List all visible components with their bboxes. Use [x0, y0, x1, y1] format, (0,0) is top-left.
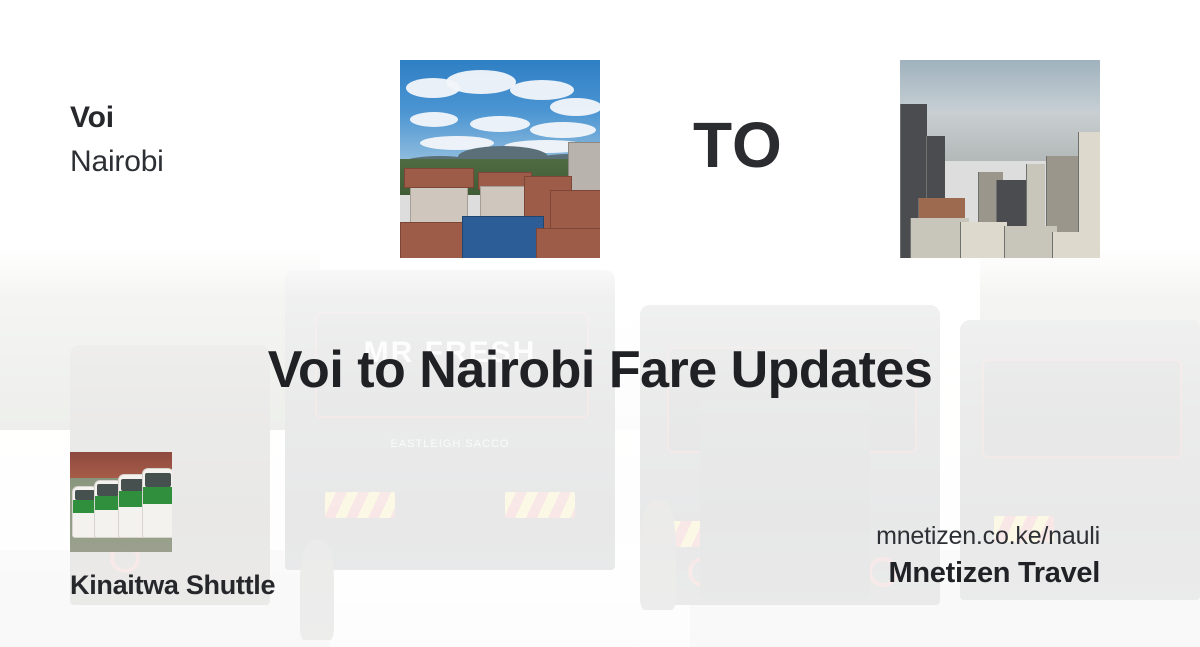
route-origin-label: Voi [70, 100, 164, 135]
destination-thumbnail [900, 60, 1100, 258]
cloud [530, 122, 596, 138]
low-rise-building [960, 222, 1007, 258]
cloud [550, 98, 600, 116]
low-rise-building [1052, 232, 1100, 258]
route-connector: TO [693, 108, 783, 182]
shuttle-van [142, 468, 172, 538]
cloud [410, 112, 458, 127]
brand-name: Mnetizen Travel [876, 557, 1100, 590]
van-green-stripe [143, 487, 172, 505]
brand-block: mnetizen.co.ke/nauli Mnetizen Travel [876, 522, 1100, 590]
building-roof [536, 228, 600, 258]
operator-logo [70, 452, 172, 552]
van-windshield [145, 473, 170, 487]
brand-url: mnetizen.co.ke/nauli [876, 522, 1100, 551]
blue-market-roof [462, 216, 544, 258]
building-roof [404, 168, 474, 188]
low-rise-building [918, 198, 965, 218]
operator-block: Kinaitwa Shuttle [70, 452, 275, 601]
van-windshield [97, 484, 119, 495]
cloud [510, 80, 574, 100]
van-windshield [75, 490, 95, 500]
route-summary: Voi Nairobi [70, 100, 164, 180]
page-title: Voi to Nairobi Fare Updates [0, 340, 1200, 400]
origin-thumbnail [400, 60, 600, 258]
fare-update-card: MR FRESH EASTLEIGH SACCO [0, 0, 1200, 647]
cloud [446, 70, 516, 94]
cloud [470, 116, 530, 132]
route-destination-label: Nairobi [70, 144, 164, 179]
operator-name: Kinaitwa Shuttle [70, 570, 275, 601]
low-rise-building [1004, 226, 1057, 258]
